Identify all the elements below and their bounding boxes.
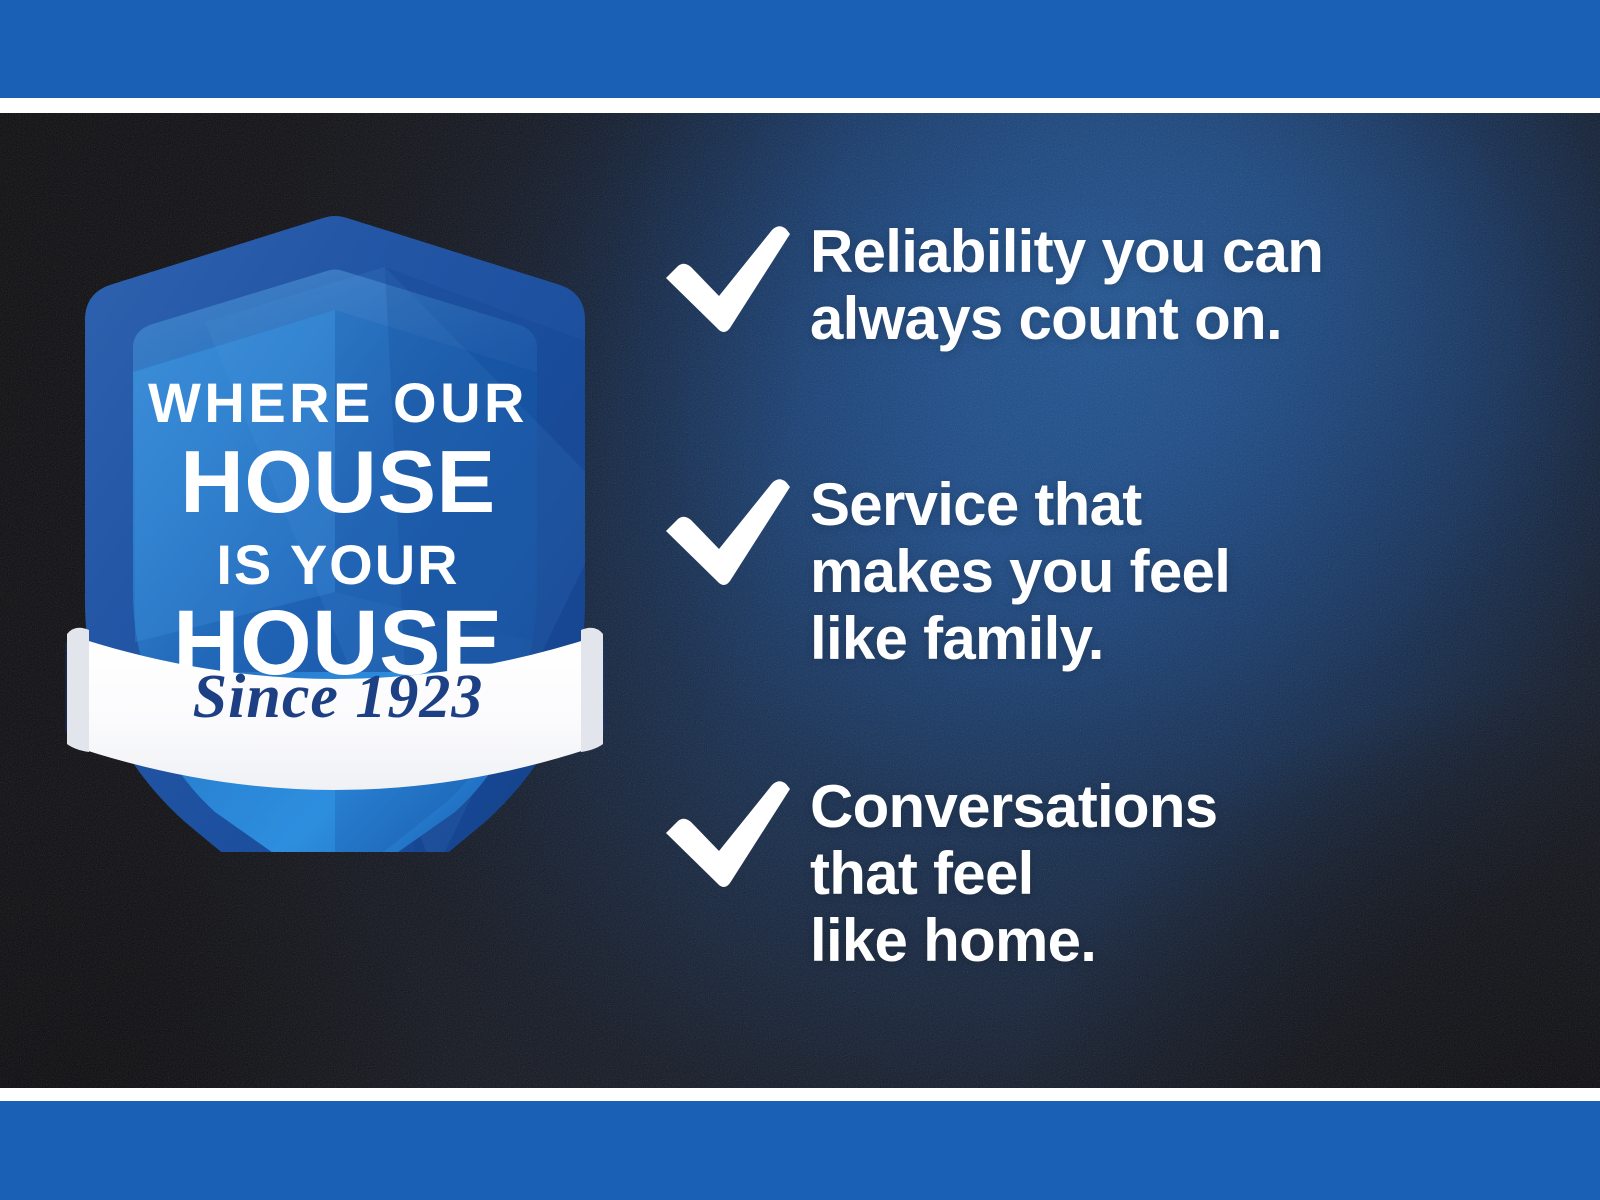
benefit-text: Service that makes you feel like family. — [810, 471, 1230, 673]
ribbon-text: Since 1923 — [193, 663, 484, 731]
benefit-text: Reliability you can always count on. — [810, 218, 1323, 352]
benefits-list: Reliability you can always count on. Ser… — [660, 113, 1540, 1088]
top-brand-bar — [0, 0, 1600, 98]
benefit-text: Conversations that feel like home. — [810, 773, 1217, 975]
promo-graphic: WHERE OUR HOUSE IS YOUR HOUSE Since 1923… — [0, 0, 1600, 1200]
ribbon-fold-right — [581, 628, 603, 752]
checkmark-icon-glyph — [660, 477, 792, 589]
benefit-item: Conversations that feel like home. — [660, 773, 1540, 975]
checkmark-icon — [660, 218, 810, 341]
checkmark-icon — [660, 471, 810, 594]
company-badge: WHERE OUR HOUSE IS YOUR HOUSE Since 1923 — [55, 172, 615, 852]
checkmark-icon-glyph — [660, 224, 792, 336]
checkmark-icon-glyph — [660, 779, 792, 891]
badge-shield-graphic: WHERE OUR HOUSE IS YOUR HOUSE Since 1923 — [55, 172, 615, 852]
top-white-divider — [0, 98, 1600, 113]
badge-line-3: IS YOUR — [216, 533, 459, 596]
benefit-item: Reliability you can always count on. — [660, 218, 1540, 352]
checkmark-icon — [660, 773, 810, 896]
ribbon-fold-left — [67, 628, 89, 752]
badge-line-1: WHERE OUR — [148, 371, 528, 434]
badge-line-2: HOUSE — [180, 432, 495, 531]
bottom-brand-bar — [0, 1101, 1600, 1200]
bottom-white-divider — [0, 1088, 1600, 1101]
benefit-item: Service that makes you feel like family. — [660, 471, 1540, 673]
